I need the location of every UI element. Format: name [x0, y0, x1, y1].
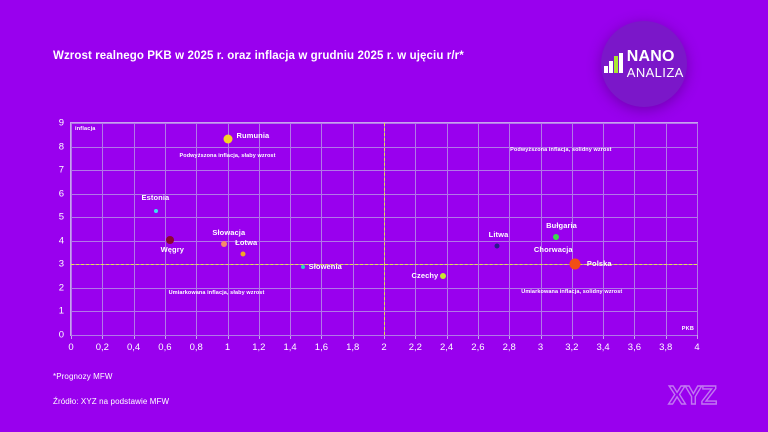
scatter-chart: inflacja PKB 012345678900,20,40,60,811,2…: [0, 0, 768, 432]
x-tick-label: 2,2: [409, 342, 422, 353]
data-point-label: Polska: [587, 259, 612, 268]
data-point-label: Estonia: [142, 193, 170, 202]
y-tick-label: 7: [59, 165, 64, 176]
data-point[interactable]: [223, 135, 232, 144]
x-tick-label: 3,6: [628, 342, 641, 353]
x-tick-label: 3,2: [565, 342, 578, 353]
infographic-root: Wzrost realnego PKB w 2025 r. oraz infla…: [0, 0, 768, 432]
quadrant-label: Podwyższona inflacja, solidny wzrost: [510, 147, 611, 153]
gridline-vertical: [415, 123, 416, 335]
data-point[interactable]: [569, 258, 580, 269]
y-tick-label: 6: [59, 188, 64, 199]
x-tick-mark: [697, 335, 698, 339]
data-point-label: Łotwa: [235, 238, 257, 247]
xyz-wordmark: XYZ: [668, 380, 716, 411]
gridline-vertical: [509, 123, 510, 335]
y-axis-label: inflacja: [75, 126, 96, 132]
y-tick-label: 3: [59, 259, 64, 270]
gridline-horizontal: [71, 335, 697, 336]
gridline-vertical: [478, 123, 479, 335]
x-tick-label: 1: [225, 342, 230, 353]
y-tick-label: 5: [59, 212, 64, 223]
data-point[interactable]: [221, 241, 227, 247]
x-tick-label: 2,8: [503, 342, 516, 353]
x-tick-label: 1,2: [252, 342, 265, 353]
y-tick-label: 4: [59, 235, 64, 246]
quadrant-label: Podwyższona inflacja, słaby wzrost: [179, 153, 275, 159]
x-tick-label: 0,2: [96, 342, 109, 353]
x-tick-label: 3: [538, 342, 543, 353]
data-point[interactable]: [301, 265, 305, 269]
y-tick-label: 9: [59, 118, 64, 129]
x-tick-label: 1,8: [346, 342, 359, 353]
y-tick-label: 8: [59, 141, 64, 152]
x-tick-label: 4: [694, 342, 699, 353]
data-point[interactable]: [553, 234, 559, 240]
x-tick-label: 0,4: [127, 342, 140, 353]
x-tick-label: 0,6: [158, 342, 171, 353]
data-point-label: Węgry: [161, 245, 184, 254]
quadrant-label: Umiarkowana inflacja, słaby wzrost: [169, 290, 265, 296]
x-tick-label: 0: [68, 342, 73, 353]
data-point-label: Litwa: [489, 230, 509, 239]
gridline-vertical: [634, 123, 635, 335]
data-point[interactable]: [166, 236, 174, 244]
x-tick-label: 2,6: [471, 342, 484, 353]
reference-line: [384, 123, 385, 335]
data-point[interactable]: [241, 251, 246, 256]
gridline-vertical: [134, 123, 135, 335]
gridline-vertical: [697, 123, 698, 335]
data-point-label: Bułgaria: [546, 221, 577, 230]
gridline-vertical: [71, 123, 72, 335]
gridline-vertical: [102, 123, 103, 335]
footnote: *Prognozy MFW: [53, 372, 113, 381]
data-point[interactable]: [494, 243, 499, 248]
data-point-label: Słowenia: [309, 262, 342, 271]
source-note: Źródło: XYZ na podstawie MFW: [53, 397, 169, 406]
gridline-vertical: [321, 123, 322, 335]
x-tick-label: 1,4: [283, 342, 296, 353]
gridline-vertical: [165, 123, 166, 335]
x-tick-label: 2,4: [440, 342, 453, 353]
gridline-vertical: [541, 123, 542, 335]
x-tick-label: 3,4: [596, 342, 609, 353]
data-point-label: Chorwacja: [534, 245, 573, 254]
gridline-vertical: [447, 123, 448, 335]
data-point-label: Słowacja: [212, 228, 245, 237]
gridline-vertical: [353, 123, 354, 335]
plot-area: inflacja PKB 012345678900,20,40,60,811,2…: [70, 122, 698, 336]
gridline-vertical: [666, 123, 667, 335]
data-point[interactable]: [154, 209, 158, 213]
data-point-label: Rumunia: [237, 131, 270, 140]
gridline-vertical: [603, 123, 604, 335]
x-tick-label: 2: [381, 342, 386, 353]
x-axis-label: PKB: [682, 326, 694, 332]
x-tick-label: 1,6: [315, 342, 328, 353]
x-tick-label: 0,8: [190, 342, 203, 353]
y-tick-label: 0: [59, 330, 64, 341]
quadrant-label: Umiarkowana inflacja, solidny wzrost: [521, 289, 622, 295]
data-point-label: Czechy: [411, 271, 438, 280]
y-tick-label: 2: [59, 282, 64, 293]
x-tick-label: 3,8: [659, 342, 672, 353]
y-tick-label: 1: [59, 306, 64, 317]
gridline-vertical: [290, 123, 291, 335]
data-point[interactable]: [440, 273, 446, 279]
